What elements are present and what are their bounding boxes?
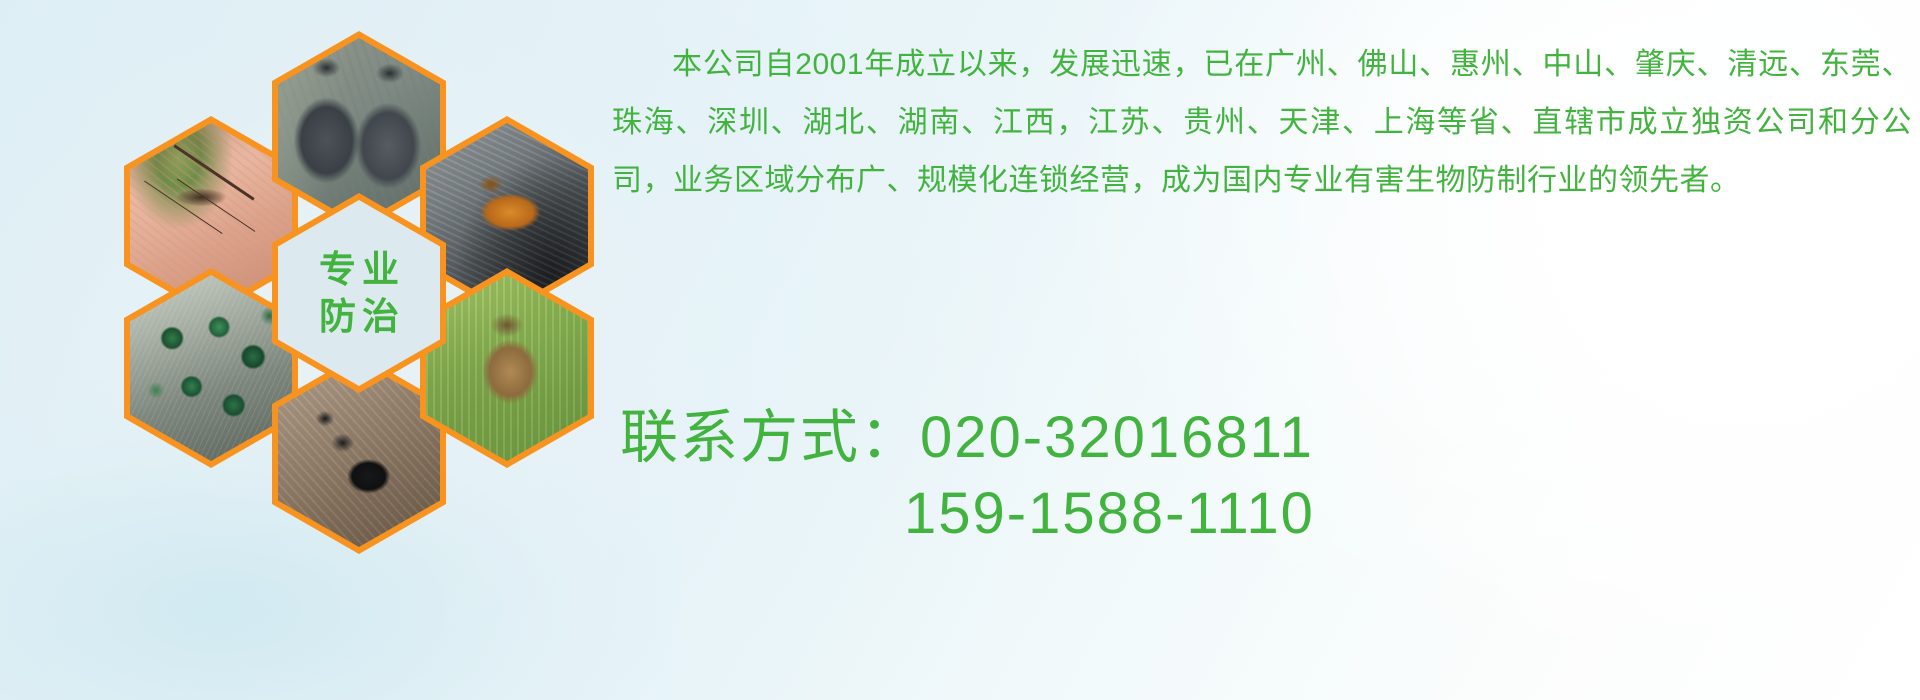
company-intro-block: 本公司自2001年成立以来，发展迅速，已在广州、佛山、惠州、中山、肇庆、清远、东… [612, 36, 1912, 210]
hex-slogan-center: 专业 防治 [272, 193, 446, 393]
slogan-line-2: 防治 [313, 298, 405, 335]
hex-photo-flies-frame [130, 275, 292, 461]
hex-photo-flies [124, 268, 298, 468]
stinkbug-photo [426, 275, 588, 461]
company-intro-paragraph: 本公司自2001年成立以来，发展迅速，已在广州、佛山、惠州、中山、肇庆、清远、东… [612, 36, 1912, 210]
hex-photo-stinkbug-frame [426, 275, 588, 461]
pest-control-banner: 专业 防治 本公司自2001年成立以来，发展迅速，已在广州、佛山、惠州、中山、肇… [0, 0, 1920, 700]
flies-photo [130, 275, 292, 461]
slogan-text: 专业 防治 [278, 200, 440, 386]
slogan-line-1: 专业 [313, 251, 405, 288]
hex-photo-stinkbug [420, 268, 594, 468]
contact-line-primary[interactable]: 联系方式：020-32016811 [620, 400, 1860, 476]
contact-line-secondary[interactable]: 159-1588-1110 [620, 476, 1860, 552]
contact-block: 联系方式：020-32016811 159-1588-1110 [620, 400, 1860, 552]
hex-slogan-frame: 专业 防治 [278, 200, 440, 386]
honeycomb-logo-cluster: 专业 防治 [92, 6, 592, 566]
